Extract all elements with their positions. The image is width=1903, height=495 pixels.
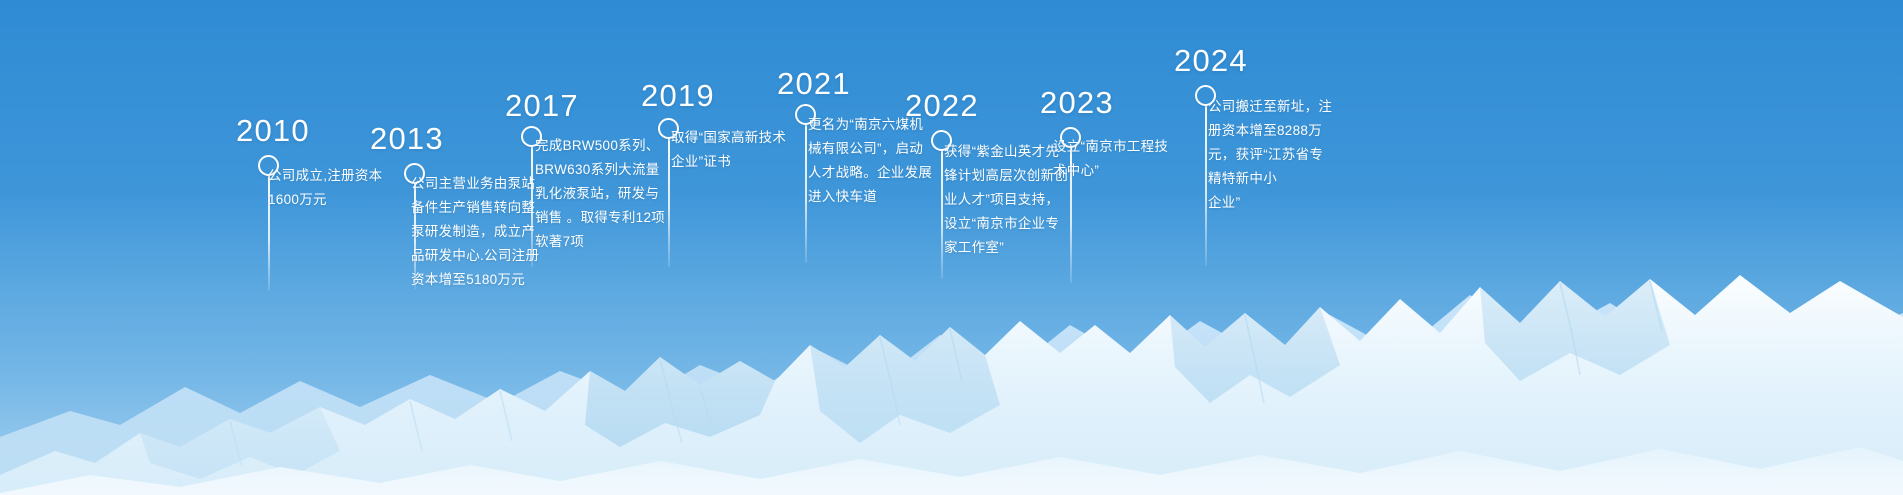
milestone-year-label: 2023 bbox=[1040, 85, 1114, 121]
milestone-year-label: 2021 bbox=[777, 66, 851, 102]
milestone-description: 公司搬迁至新址，注 册资本增至8288万 元，获评“江苏省专 精特新中小 企业” bbox=[1208, 95, 1338, 215]
milestone-year-label: 2022 bbox=[905, 88, 979, 124]
milestone-connector-line bbox=[531, 147, 533, 267]
milestone-connector-line bbox=[941, 151, 943, 279]
milestone-year-label: 2010 bbox=[236, 113, 310, 149]
milestone-year-label: 2024 bbox=[1174, 43, 1248, 79]
milestone-description: 设立“南京市工程技 术中心” bbox=[1053, 135, 1183, 183]
milestone-year-label: 2017 bbox=[505, 88, 579, 124]
milestone-connector-line bbox=[805, 125, 807, 263]
milestone-year-label: 2013 bbox=[370, 121, 444, 157]
timeline-banner: 2010公司成立,注册资本 1600万元2013公司主营业务由泵站 备件生产销售… bbox=[0, 0, 1903, 495]
milestone-connector-line bbox=[668, 139, 670, 267]
milestone-description: 完成BRW500系列、 BRW630系列大流量 乳化液泵站，研发与 销售 。取得… bbox=[535, 134, 685, 254]
milestone-year-label: 2019 bbox=[641, 78, 715, 114]
milestone-description: 更名为“南京六煤机 械有限公司”，启动 人才战略。企业发展 进入快车道 bbox=[808, 113, 936, 209]
milestone-description: 取得“国家高新技术 企业”证书 bbox=[671, 126, 799, 174]
milestone-connector-line bbox=[1205, 106, 1207, 266]
milestone-description: 公司成立,注册资本 1600万元 bbox=[268, 164, 398, 212]
